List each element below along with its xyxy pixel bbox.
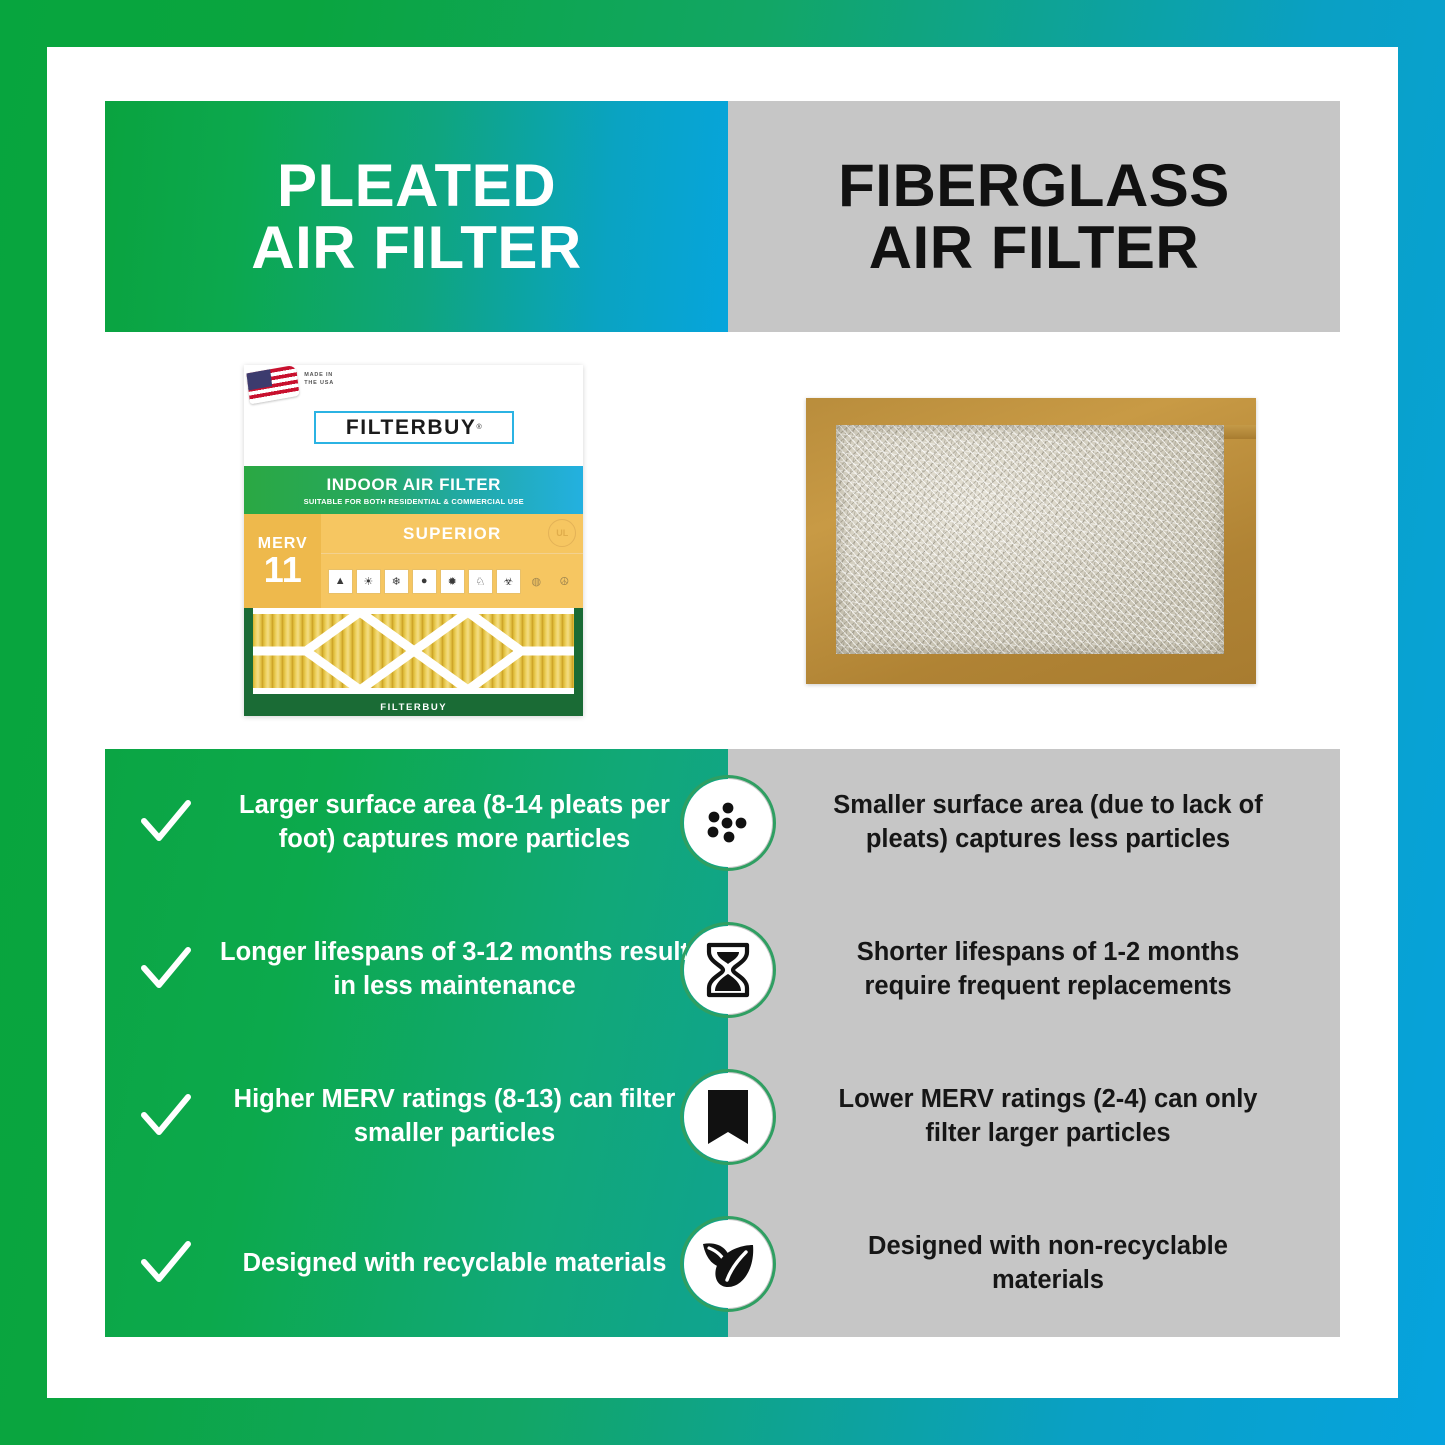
- comparison-row: Higher MERV ratings (8-13) can filter sm…: [105, 1043, 1340, 1190]
- header-fiberglass-line2: AIR FILTER: [838, 217, 1230, 278]
- checkmark-icon: [135, 1089, 197, 1145]
- pollen-icon: ☀: [356, 569, 381, 594]
- comparison-row: Larger surface area (8-14 pleats per foo…: [105, 749, 1340, 896]
- made-in-usa-text: MADE IN THE USA: [304, 371, 334, 388]
- header-fiberglass: FIBERGLASS AIR FILTER: [728, 101, 1340, 332]
- merv-badge: MERV 11: [244, 514, 321, 608]
- row-2-right-text: Shorter lifespans of 1-2 months require …: [728, 936, 1340, 1003]
- frame-corner-notch: [1222, 425, 1256, 439]
- package-band-title: INDOOR AIR FILTER: [326, 475, 501, 495]
- usa-flag-icon: [247, 365, 300, 404]
- row-3-right-text: Lower MERV ratings (2-4) can only filter…: [728, 1083, 1340, 1150]
- outer-gradient-border: PLEATED AIR FILTER FIBERGLASS AIR FILTER: [0, 0, 1445, 1445]
- registered-mark: ®: [477, 424, 482, 431]
- header-pleated-line1: PLEATED: [277, 152, 556, 219]
- filterbuy-package-image: MADE IN THE USA FILTERBUY® INDOOR AIR FI…: [244, 365, 583, 716]
- bacteria-icon: ❄: [384, 569, 409, 594]
- leaves-icon: [680, 1216, 776, 1312]
- mold-icon: ●: [412, 569, 437, 594]
- row-1-left: Larger surface area (8-14 pleats per foo…: [105, 789, 728, 856]
- comparison-rows: Larger surface area (8-14 pleats per foo…: [105, 749, 1340, 1337]
- package-indoor-band: INDOOR AIR FILTER SUITABLE FOR BOTH RESI…: [244, 466, 583, 514]
- white-card: PLEATED AIR FILTER FIBERGLASS AIR FILTER: [47, 47, 1398, 1398]
- filterbuy-wordmark: FILTERBUY: [346, 416, 477, 440]
- virus-icon: ◍: [524, 569, 549, 594]
- odor-icon: ☮: [552, 569, 577, 594]
- row-4-left: Designed with recyclable materials: [105, 1236, 728, 1292]
- product-images-row: MADE IN THE USA FILTERBUY® INDOOR AIR FI…: [105, 332, 1340, 749]
- dust-icon: ▲: [328, 569, 353, 594]
- package-merv-section: MERV 11 SUPERIOR UL ▲ ☀ ❄: [244, 514, 583, 608]
- package-tier-row: SUPERIOR UL: [321, 514, 583, 554]
- row-1-left-text: Larger surface area (8-14 pleats per foo…: [217, 789, 692, 856]
- header-pleated: PLEATED AIR FILTER: [105, 101, 728, 332]
- fiberglass-media: [836, 425, 1224, 654]
- package-band-subtitle: SUITABLE FOR BOTH RESIDENTIAL & COMMERCI…: [304, 497, 524, 506]
- package-tier-area: SUPERIOR UL ▲ ☀ ❄ ● ✹ ♘ ☣: [321, 514, 583, 608]
- row-1-right-text: Smaller surface area (due to lack of ple…: [728, 789, 1340, 856]
- header-fiberglass-title: FIBERGLASS AIR FILTER: [838, 155, 1230, 277]
- row-4-right-text: Designed with non-recyclable materials: [728, 1230, 1340, 1297]
- comparison-row: Longer lifespans of 3-12 months result i…: [105, 896, 1340, 1043]
- comparison-row: Designed with recyclable materials Desig…: [105, 1190, 1340, 1337]
- pleated-product-cell: MADE IN THE USA FILTERBUY® INDOOR AIR FI…: [105, 332, 723, 749]
- fiberglass-product-cell: [723, 332, 1341, 749]
- checkmark-icon: [135, 942, 197, 998]
- row-3-left-text: Higher MERV ratings (8-13) can filter sm…: [217, 1083, 692, 1150]
- fiberglass-filter-image: [806, 398, 1256, 684]
- row-4-left-text: Designed with recyclable materials: [217, 1247, 692, 1281]
- particles-icon: [680, 775, 776, 871]
- header-band: PLEATED AIR FILTER FIBERGLASS AIR FILTER: [105, 101, 1340, 332]
- header-fiberglass-line1: FIBERGLASS: [838, 152, 1230, 219]
- comparison-section: Larger surface area (8-14 pleats per foo…: [105, 749, 1340, 1337]
- smoke-icon: ✹: [440, 569, 465, 594]
- merv-value: 11: [264, 553, 302, 587]
- package-capability-icons: ▲ ☀ ❄ ● ✹ ♘ ☣ ◍ ☮: [321, 554, 583, 608]
- row-2-left-text: Longer lifespans of 3-12 months result i…: [217, 936, 692, 1003]
- package-footer-brand: FILTERBUY: [244, 702, 583, 713]
- ul-seal-icon: UL: [548, 519, 576, 547]
- pleated-media-illustration: FILTERBUY: [244, 608, 583, 716]
- checkmark-icon: [135, 795, 197, 851]
- diamond-support-grid: [253, 608, 574, 694]
- row-2-left: Longer lifespans of 3-12 months result i…: [105, 936, 728, 1003]
- bookmark-icon: [680, 1069, 776, 1165]
- header-pleated-title: PLEATED AIR FILTER: [251, 155, 582, 277]
- package-top-white-area: MADE IN THE USA FILTERBUY®: [244, 365, 583, 466]
- package-tier-label: SUPERIOR: [403, 524, 501, 544]
- hourglass-icon: [680, 922, 776, 1018]
- row-3-left: Higher MERV ratings (8-13) can filter sm…: [105, 1083, 728, 1150]
- allergen-icon: ☣: [496, 569, 521, 594]
- filterbuy-logo: FILTERBUY®: [314, 411, 514, 444]
- pet-dander-icon: ♘: [468, 569, 493, 594]
- checkmark-icon: [135, 1236, 197, 1292]
- header-pleated-line2: AIR FILTER: [251, 217, 582, 278]
